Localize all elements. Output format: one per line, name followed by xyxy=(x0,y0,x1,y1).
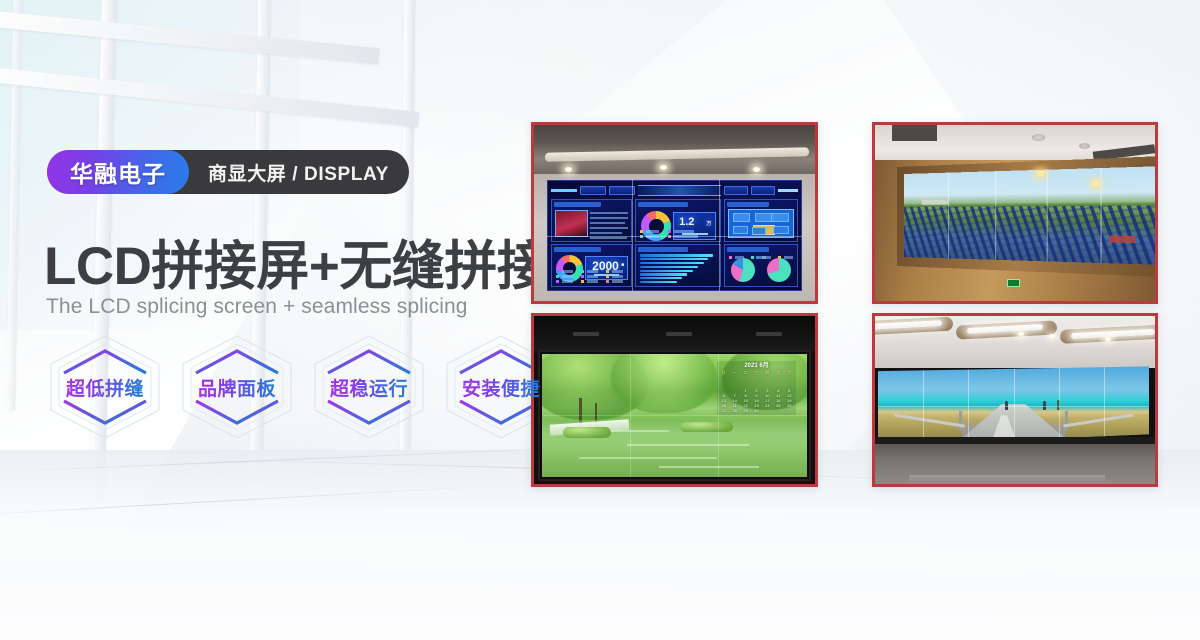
product-photo-dashboard-videowall: 1.2 万 xyxy=(531,122,818,304)
fence-post xyxy=(1065,411,1068,432)
feature-item-2: 品牌面板 xyxy=(178,332,296,442)
calendar-overlay: 2021 6月 日 一 二 三 四 五 六 xyxy=(717,361,796,415)
ceiling-light xyxy=(1079,143,1090,149)
product-photo-garden-pond-videowall: 2021 6月 日 一 二 三 四 五 六 xyxy=(531,313,818,487)
videowall-screen-solar-farm xyxy=(904,167,1155,265)
calendar-weekday: 六 xyxy=(784,371,794,389)
panel-header xyxy=(727,202,769,207)
calendar-day: 30 xyxy=(752,409,762,413)
calendar-title: 2021 6月 xyxy=(719,363,794,370)
donut-chart xyxy=(556,255,583,282)
calendar-day: 24 xyxy=(762,404,772,408)
wall-sconce xyxy=(1093,181,1099,186)
ceiling-light xyxy=(1032,134,1045,141)
feature-list: 超低拼缝 品牌面板 xyxy=(46,332,560,442)
dashboard-nav-chip xyxy=(580,186,606,195)
mount-bracket xyxy=(756,332,782,336)
dashboard-panel-secondary-kpi: 2000 ■ xyxy=(551,244,633,287)
calendar-days-grid: 1 2 3 4 5 6 7 8 9 10 11 12 13 xyxy=(719,389,794,413)
bar-chart xyxy=(640,254,715,283)
calendar-weekday: 五 xyxy=(773,371,783,389)
hedge xyxy=(680,422,733,432)
calendar-day: 26 xyxy=(784,404,794,408)
dark-ceiling xyxy=(534,316,815,351)
ceiling-vent xyxy=(892,125,937,141)
feature-label: 超稳运行 xyxy=(330,374,408,401)
panel-header xyxy=(554,202,601,207)
dashboard-nav-chip xyxy=(724,186,748,195)
calendar-day: 29 xyxy=(741,409,751,413)
page-title: LCD拼接屏+无缝拼接 xyxy=(44,224,549,300)
calendar-weekday: 四 xyxy=(762,371,772,389)
panel-photo xyxy=(555,210,589,236)
calendar-weekday-row: 日 一 二 三 四 五 六 xyxy=(719,371,794,389)
panel-header xyxy=(554,247,601,252)
floor-seam-2 xyxy=(0,483,530,515)
fence-post xyxy=(959,411,962,432)
calendar-day: 27 xyxy=(719,409,729,413)
pie-chart xyxy=(767,258,791,282)
videowall-screen-beach-boardwalk xyxy=(878,366,1150,445)
dashboard-timestamp xyxy=(551,189,577,192)
feature-item-1: 超低拼缝 xyxy=(46,332,164,442)
feature-label: 超低拼缝 xyxy=(66,374,144,401)
wall-sconce xyxy=(1037,171,1044,176)
dashboard-panel-pie-charts xyxy=(724,244,799,287)
calendar-day: 25 xyxy=(773,404,783,408)
lobby-ceiling xyxy=(875,316,1155,368)
videowall-screen-garden-pond: 2021 6月 日 一 二 三 四 五 六 xyxy=(542,354,807,477)
calendar-day: 28 xyxy=(730,409,740,413)
dashboard-panel-bar-chart xyxy=(635,244,720,287)
distant-buildings xyxy=(922,199,949,204)
floor-reflection xyxy=(909,475,1105,484)
mount-bracket xyxy=(666,332,692,336)
panel-header xyxy=(727,247,769,252)
calendar-weekday: 一 xyxy=(730,371,740,389)
kpi-unit: 万 xyxy=(706,220,711,227)
calendar-weekday: 日 xyxy=(719,371,729,389)
mount-bracket xyxy=(573,332,599,336)
calendar-weekday: 三 xyxy=(752,371,762,389)
feature-label: 品牌面板 xyxy=(198,374,276,401)
page-subtitle: The LCD splicing screen + seamless splic… xyxy=(46,295,468,319)
brand-category: 商显大屏 / DISPLAY xyxy=(189,159,389,186)
red-roof-building xyxy=(1109,236,1135,243)
feature-label: 安装便捷 xyxy=(462,374,540,401)
lobby-floor xyxy=(875,444,1155,484)
product-photo-beach-boardwalk-videowall xyxy=(872,313,1158,487)
product-photo-solar-farm-videowall xyxy=(872,122,1158,304)
brand-name: 华融电子 xyxy=(47,150,189,194)
brand-badge: 华融电子 商显大屏 / DISPLAY xyxy=(47,150,409,194)
videowall-frame: 2021 6月 日 一 二 三 四 五 六 xyxy=(538,350,811,481)
dashboard-title-bar xyxy=(638,185,722,196)
hedge xyxy=(563,427,611,438)
feature-item-3: 超稳运行 xyxy=(310,332,428,442)
promo-banner: 华融电子 商显大屏 / DISPLAY LCD拼接屏+无缝拼接 The LCD … xyxy=(0,0,1200,640)
pie-chart xyxy=(731,258,755,282)
exit-sign-icon xyxy=(1007,279,1020,287)
calendar-weekday: 二 xyxy=(741,371,751,389)
dashboard-status xyxy=(778,189,798,192)
flow-diagram xyxy=(728,209,795,238)
kpi-value: 1.2 xyxy=(679,216,694,228)
dashboard-header xyxy=(551,184,799,197)
panel-header xyxy=(638,202,687,207)
panel-header xyxy=(638,247,687,252)
willow-tree xyxy=(611,354,717,413)
dashboard-nav-chip xyxy=(751,186,775,195)
dashboard-row-bottom: 2000 ■ xyxy=(551,244,799,287)
dashboard-nav-chip xyxy=(609,186,635,195)
solar-panel-array xyxy=(904,204,1155,265)
